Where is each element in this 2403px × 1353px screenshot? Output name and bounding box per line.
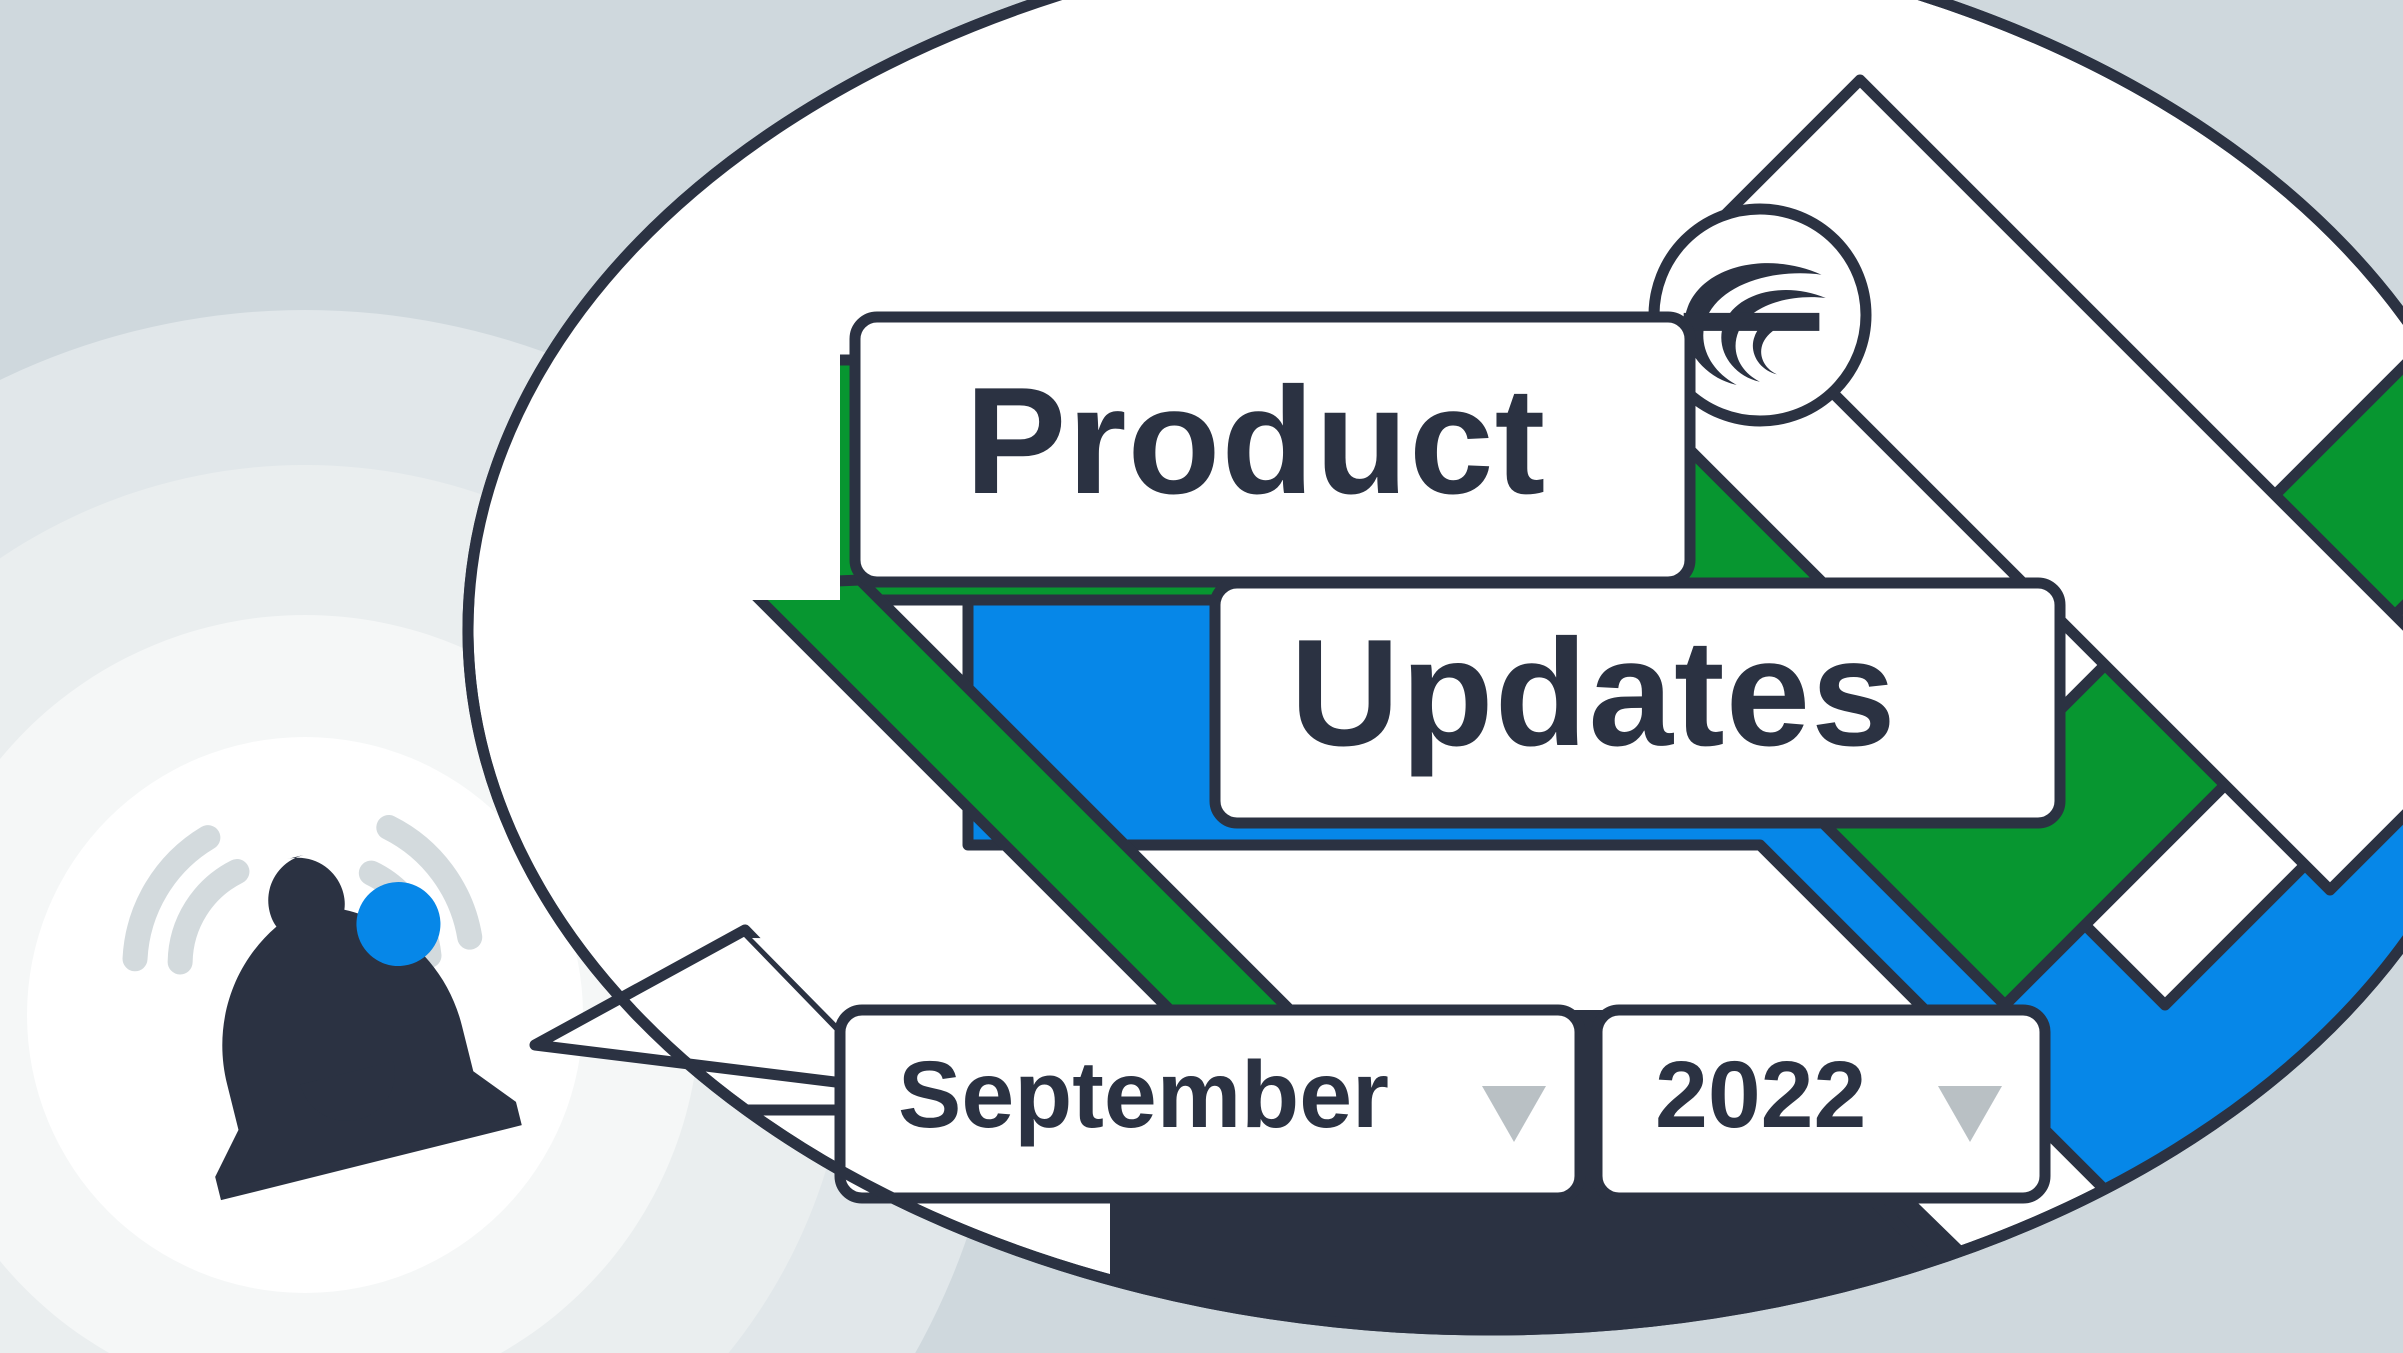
title-card-product: Product <box>855 317 1690 582</box>
title-card-updates: Updates <box>1215 583 2060 823</box>
updates-label: Updates <box>1290 608 1897 778</box>
product-updates-banner: Product Updates September 2022 <box>0 0 2403 1353</box>
month-dropdown[interactable]: September <box>840 1010 1580 1198</box>
year-dropdown[interactable]: 2022 <box>1597 1010 2045 1198</box>
product-label: Product <box>965 356 1546 526</box>
speech-bubble: Product Updates September 2022 <box>0 0 2403 1353</box>
year-dropdown-value: 2022 <box>1655 1042 1866 1148</box>
month-dropdown-value: September <box>898 1042 1389 1148</box>
swoosh-bar <box>1684 313 1820 331</box>
